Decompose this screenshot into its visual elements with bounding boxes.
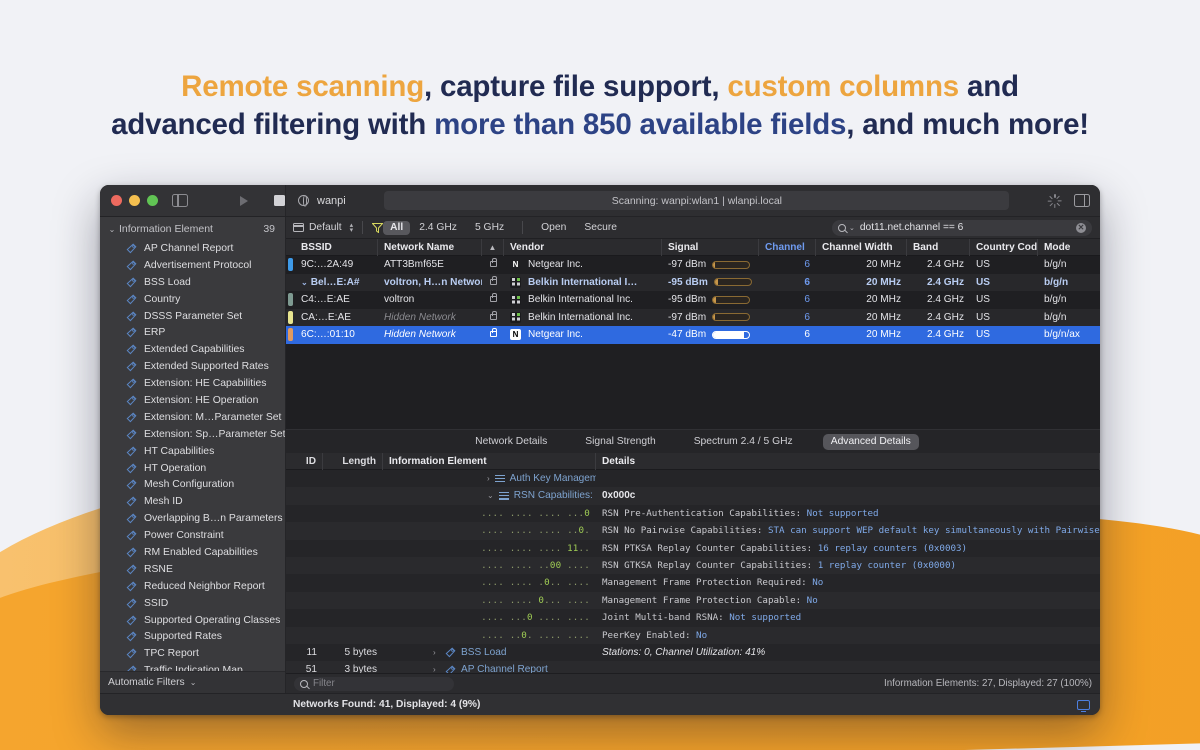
networks-col-mode[interactable]: Mode (1038, 239, 1100, 256)
sidebar-item[interactable]: RSNE (100, 561, 285, 578)
headline-line1: Remote scanning, capture file support, c… (181, 70, 1019, 103)
detail-value: Not supported (729, 612, 801, 623)
cell-band: 2.4 GHz (907, 291, 970, 309)
cell-length (323, 627, 383, 644)
networks-col-bssid[interactable]: BSSID (295, 239, 378, 256)
cell-details: Management Frame Protection Capable: No (596, 592, 1100, 609)
disclosure-triangle-icon[interactable]: › (433, 644, 440, 661)
details-col-details[interactable]: Details (596, 453, 1100, 470)
cell-details: PeerKey Enabled: No (596, 627, 1100, 644)
filter-band-5-button[interactable]: 5 GHz (466, 221, 513, 235)
cell-id (286, 540, 323, 557)
tag-icon (126, 479, 137, 490)
sidebar-item-label: Extension: HE Capabilities (144, 378, 266, 389)
bssid-text: 9C:…2A:49 (301, 259, 353, 270)
window-statusbar: Networks Found: 41, Displayed: 4 (9%) (100, 693, 1100, 715)
detail-value: Not supported (807, 508, 879, 519)
sidebar-item[interactable]: ERP (100, 324, 285, 341)
sidebar-item-label: Supported Operating Classes (144, 615, 280, 626)
cell-channel-width: 20 MHz (816, 274, 907, 292)
cell-mode: b/g/n (1038, 309, 1100, 327)
cell-details: Management Frame Protection Required: No (596, 574, 1100, 591)
cell-element: ›AP Channel Report (383, 661, 596, 673)
cell-signal: -95 dBm (662, 274, 759, 292)
cell-id (286, 627, 323, 644)
sidebar-item[interactable]: Extension: Sp…Parameter Set (100, 426, 285, 443)
cell-mode: b/g/n (1038, 291, 1100, 309)
chevron-down-icon: ⌄ (849, 224, 855, 232)
sidebar-item[interactable]: AP Channel Report (100, 240, 285, 257)
cell-signal: -47 dBm (662, 326, 759, 344)
tag-icon (126, 395, 137, 406)
cell-bssid: ⌄Bel…E:A# (295, 274, 378, 292)
sidebar-item[interactable]: Supported Rates (100, 628, 285, 645)
sidebar-item[interactable]: RM Enabled Capabilities (100, 544, 285, 561)
cell-details (596, 661, 1100, 673)
cell-channel: 6 (759, 326, 816, 344)
sidebar-item[interactable]: BSS Load (100, 274, 285, 291)
tag-icon (126, 581, 137, 592)
network-color-swatch (286, 291, 295, 309)
cell-vendor: NNetgear Inc. (504, 256, 662, 274)
networks-col-country-code[interactable]: Country Code (970, 239, 1038, 256)
tree-node[interactable]: ›AP Channel Report (433, 661, 590, 673)
cell-channel: 6 (759, 256, 816, 274)
list-icon (495, 475, 505, 483)
sidebar-item[interactable]: HT Operation (100, 460, 285, 477)
tag-icon (126, 665, 137, 671)
netgear-logo-icon: N (510, 259, 521, 270)
cell-details: 0x000c (596, 487, 1100, 504)
chevron-updown-icon: ▴▾ (350, 223, 354, 233)
automatic-filters-button[interactable]: Automatic Filters ⌄ (100, 671, 285, 693)
lock-icon (490, 261, 497, 267)
tag-icon (126, 378, 137, 389)
list-icon (499, 492, 509, 500)
cell-details (596, 470, 1100, 487)
cell-signal: -97 dBm (662, 309, 759, 327)
cell-channel: 6 (759, 309, 816, 327)
sidebar-item-label: Extended Capabilities (144, 344, 245, 355)
filter-all-button[interactable]: All (383, 221, 410, 235)
network-color-swatch (286, 274, 295, 292)
headline-text-4: , and much more! (846, 108, 1089, 141)
cell-security (482, 256, 504, 274)
headline-line2: advanced filtering with more than 850 av… (0, 106, 1200, 144)
tag-icon (126, 344, 137, 355)
networks-col-channel-width[interactable]: Channel Width (816, 239, 907, 256)
vendor-text: Netgear Inc. (528, 326, 583, 344)
tag-icon (126, 463, 137, 474)
sidebar-item-label: ERP (144, 327, 165, 338)
tab-signal-strength[interactable]: Signal Strength (577, 434, 663, 450)
sidebar-item[interactable]: Power Constraint (100, 527, 285, 544)
sidebar-item-label: Extended Supported Rates (144, 361, 269, 372)
window-body: ⌄ Information Element 39 AP Channel Repo… (100, 217, 1100, 693)
sidebar-item-label: Power Constraint (144, 530, 224, 541)
tag-icon (126, 243, 137, 254)
details-row[interactable]: .... .... .... ...0RSN Pre-Authenticatio… (286, 505, 1100, 522)
sidebar-item-label: RM Enabled Capabilities (144, 547, 258, 558)
details-row[interactable]: .... .... 0... ....Management Frame Prot… (286, 592, 1100, 609)
filter-band-24-button[interactable]: 2.4 GHz (410, 221, 466, 235)
tag-icon (126, 530, 137, 541)
clear-search-icon[interactable]: ✕ (1076, 223, 1086, 233)
cell-id: 11 (286, 644, 323, 661)
detail-value: STA can support WEP default key simultan… (768, 525, 1100, 536)
bssid-text: 6C:…:01:10 (301, 329, 355, 340)
network-row[interactable]: C4:…E:AEvoltronBelkin International Inc.… (286, 291, 1100, 309)
filter-secure-button[interactable]: Secure (575, 221, 626, 235)
sidebar-item-label: Overlapping B…n Parameters (144, 513, 283, 524)
cell-id (286, 522, 323, 539)
cell-bssid: C4:…E:AE (295, 291, 378, 309)
cell-length: 3 bytes (323, 661, 383, 673)
details-row[interactable]: .... .... .0.. ....Management Frame Prot… (286, 574, 1100, 591)
tab-advanced-details[interactable]: Advanced Details (823, 434, 919, 450)
cell-channel-width: 20 MHz (816, 326, 907, 344)
details-row[interactable]: .... .... .... 11..RSN PTKSA Replay Coun… (286, 540, 1100, 557)
detail-label: RSN No Pairwise Capabilities: (602, 525, 768, 536)
tree-node[interactable]: ›Auth Key Management Suite List (487, 470, 590, 487)
details-row[interactable]: .... .... ..00 ....RSN GTKSA Replay Coun… (286, 557, 1100, 574)
details-count-label: Information Elements: 27, Displayed: 27 … (884, 678, 1092, 689)
sidebar-item[interactable]: Extension: HE Capabilities (100, 375, 285, 392)
automatic-filters-label: Automatic Filters (108, 677, 185, 688)
lock-icon (490, 279, 497, 285)
tag-icon (126, 327, 137, 338)
network-row[interactable]: CA:…E:AEHidden NetworkBelkin Internation… (286, 309, 1100, 327)
cell-mode: b/g/n (1038, 274, 1100, 292)
detail-value: 1 replay counter (0x0000) (818, 560, 956, 571)
tag-icon (126, 547, 137, 558)
sidebar-item-label: DSSS Parameter Set (144, 311, 242, 322)
window-controls[interactable] (111, 195, 158, 206)
close-window-button[interactable] (111, 195, 122, 206)
sidebar-item-label: SSID (144, 598, 168, 609)
tag-icon (126, 631, 137, 642)
networks-col-network-name[interactable]: Network Name (378, 239, 482, 256)
networks-col-signal[interactable]: Signal (662, 239, 759, 256)
sidebar-item[interactable]: Traffic Indication Map (100, 662, 285, 671)
detail-value: 16 replay counters (0x0003) (818, 543, 967, 554)
headline: Remote scanning, capture file support, c… (0, 68, 1200, 145)
sidebar-item-label: Extension: Sp…Parameter Set (144, 429, 285, 440)
element-label: BSS Load (461, 644, 506, 661)
signal-text: -47 dBm (668, 326, 706, 344)
signal-strength-bar (712, 313, 750, 321)
disclosure-triangle-icon[interactable]: ⌄ (487, 487, 494, 504)
divider (522, 221, 523, 234)
tree-node[interactable]: ⌄RSN Capabilities: (487, 487, 590, 504)
disclosure-triangle-icon[interactable]: › (487, 470, 490, 487)
headline-accent-3: more than 850 available fields (434, 108, 846, 141)
bssid-text: CA:…E:AE (301, 312, 351, 323)
network-row[interactable]: 6C:…:01:10Hidden NetworkNNetgear Inc.-47… (286, 326, 1100, 344)
cell-length: 5 bytes (323, 644, 383, 661)
networks-col-band[interactable]: Band (907, 239, 970, 256)
cell-network-name: Hidden Network (378, 309, 482, 327)
start-scan-icon[interactable] (240, 196, 248, 206)
details-row[interactable]: ⌄RSN Capabilities:0x000c (286, 487, 1100, 504)
disclosure-triangle-icon[interactable]: › (433, 661, 440, 673)
sidebar-item[interactable]: TPC Report (100, 645, 285, 662)
sidebar-item-label: AP Channel Report (144, 243, 233, 254)
cell-id (286, 505, 323, 522)
networks-col-sort[interactable]: ▲ (482, 239, 504, 256)
cell-bitmask: .... .... .... ...0 (383, 505, 596, 522)
tag-icon (126, 598, 137, 609)
details-filter-input[interactable]: Filter (294, 677, 454, 691)
detail-value: No (696, 630, 707, 641)
bssid-text: Bel…E:A# (311, 277, 360, 288)
network-row[interactable]: 9C:…2A:49ATT3Bmf65ENNetgear Inc.-97 dBm6… (286, 256, 1100, 274)
cell-security (482, 326, 504, 344)
network-row[interactable]: ⌄Bel…E:A#voltron, H…n NetworkBelkin Inte… (286, 274, 1100, 292)
cell-id (286, 609, 323, 626)
sidebar-section-header[interactable]: ⌄ Information Element 39 (100, 217, 285, 239)
sidebar-item[interactable]: Country (100, 291, 285, 308)
lock-icon (490, 296, 497, 302)
sidebar-item[interactable]: Reduced Neighbor Report (100, 578, 285, 595)
sidebar-item[interactable]: Extension: HE Operation (100, 392, 285, 409)
cell-id (286, 574, 323, 591)
signal-strength-bar (712, 296, 750, 304)
sidebar-item[interactable]: SSID (100, 595, 285, 612)
details-col-length[interactable]: Length (323, 453, 383, 470)
cell-details: Joint Multi-band RSNA: Not supported (596, 609, 1100, 626)
expand-group-icon[interactable]: ⌄ (301, 278, 308, 287)
sidebar-item-label: Extension: HE Operation (144, 395, 258, 406)
search-icon (838, 224, 846, 232)
details-row[interactable]: .... ...0 .... ....Joint Multi-band RSNA… (286, 609, 1100, 626)
cell-bitmask: .... .... .... 11.. (383, 540, 596, 557)
search-value: dot11.net.channel == 6 (860, 222, 963, 233)
lock-icon (490, 314, 497, 320)
networks-col-channel[interactable]: Channel (759, 239, 816, 256)
belkin-logo-icon (510, 294, 521, 305)
detail-label: RSN Pre-Authentication Capabilities: (602, 508, 807, 519)
signal-text: -95 dBm (668, 274, 708, 292)
cell-length (323, 557, 383, 574)
tag-icon (126, 277, 137, 288)
cell-security (482, 309, 504, 327)
tab-spectrum-2-4-5-ghz[interactable]: Spectrum 2.4 / 5 GHz (686, 434, 801, 450)
cell-bitmask: .... .... .0.. .... (383, 574, 596, 591)
filter-open-button[interactable]: Open (532, 221, 575, 235)
profile-label: Default (309, 222, 342, 233)
network-color-swatch (286, 309, 295, 327)
scanning-status-field: Scanning: wanpi:wlan1 | wlanpi.local (384, 191, 1009, 210)
headline-accent-1: Remote scanning (181, 70, 424, 103)
sidebar-item[interactable]: Mesh Configuration (100, 476, 285, 493)
signal-text: -97 dBm (668, 309, 706, 327)
cell-bitmask: .... .... 0... .... (383, 592, 596, 609)
cell-bitmask: .... .... ..00 .... (383, 557, 596, 574)
detail-label: PeerKey Enabled: (602, 630, 696, 641)
toggle-inspector-icon[interactable] (1074, 194, 1090, 207)
sidebar-item-label: Mesh ID (144, 496, 183, 507)
sidebar-item-label: HT Operation (144, 463, 206, 474)
details-row[interactable]: ›Auth Key Management Suite List (286, 470, 1100, 487)
filter-funnel-icon[interactable] (372, 223, 383, 233)
cell-signal: -95 dBm (662, 291, 759, 309)
tag-icon (126, 260, 137, 271)
cell-country-code: US (970, 291, 1038, 309)
cell-country-code: US (970, 256, 1038, 274)
details-row[interactable]: .... .... .... ..0.RSN No Pairwise Capab… (286, 522, 1100, 539)
cell-length (323, 522, 383, 539)
cell-length (323, 505, 383, 522)
detail-label: RSN PTKSA Replay Counter Capabilities: (602, 543, 818, 554)
cell-channel-width: 20 MHz (816, 291, 907, 309)
network-color-swatch (286, 256, 295, 274)
cell-bitmask: .... .... .... ..0. (383, 522, 596, 539)
cell-length (323, 574, 383, 591)
stop-scan-icon[interactable] (274, 195, 285, 206)
sort-ascending-icon: ▲ (489, 243, 497, 252)
tag-icon (445, 665, 456, 674)
details-row[interactable]: 115 bytes›BSS LoadStations: 0, Channel U… (286, 644, 1100, 661)
sidebar-item-label: TPC Report (144, 648, 199, 659)
belkin-logo-icon (510, 312, 521, 323)
details-filter-bar: Filter Information Elements: 27, Display… (286, 673, 1100, 693)
sidebar-section-count: 39 (263, 223, 275, 235)
sidebar-item[interactable]: Supported Operating Classes (100, 612, 285, 629)
sidebar-item[interactable]: DSSS Parameter Set (100, 308, 285, 325)
app-window: wanpi Scanning: wanpi:wlan1 | wlanpi.loc… (100, 185, 1100, 715)
cell-band: 2.4 GHz (907, 256, 970, 274)
details-col-element[interactable]: Information Element (383, 453, 596, 470)
netgear-logo-icon: N (510, 329, 521, 340)
detail-value: No (807, 595, 818, 606)
networks-found-label: Networks Found: 41, Displayed: 4 (9%) (286, 699, 480, 710)
element-label: AP Channel Report (461, 661, 548, 673)
sidebar-item[interactable]: Extended Capabilities (100, 341, 285, 358)
lock-icon (490, 331, 497, 337)
maximize-window-button[interactable] (147, 195, 158, 206)
cell-id (286, 470, 323, 487)
networks-table-body: 9C:…2A:49ATT3Bmf65ENNetgear Inc.-97 dBm6… (286, 256, 1100, 429)
advanced-details-panel: ID Length Information Element Details ›A… (286, 453, 1100, 693)
cell-bitmask: .... ...0 .... .... (383, 609, 596, 626)
sidebar: ⌄ Information Element 39 AP Channel Repo… (100, 217, 286, 693)
sidebar-item[interactable]: Overlapping B…n Parameters (100, 510, 285, 527)
vendor-text: Belkin International I… (528, 274, 637, 292)
vendor-text: Belkin International Inc. (528, 309, 633, 327)
details-row[interactable]: 513 bytes›AP Channel Report (286, 661, 1100, 673)
tag-icon (126, 513, 137, 524)
sidebar-section-label: Information Element (118, 223, 263, 235)
sidebar-item-label: RSNE (144, 564, 173, 575)
cell-security (482, 274, 504, 292)
main-area: Default ▴▾ All 2.4 GHz 5 GHz Open Secure (286, 217, 1100, 693)
sidebar-item-label: Extension: M…Parameter Set (144, 412, 281, 423)
tag-icon (126, 648, 137, 659)
cell-network-name: Hidden Network (378, 326, 482, 344)
networks-table-header: BSSIDNetwork Name▲VendorSignalChannelCha… (286, 239, 1100, 256)
cell-mode: b/g/n (1038, 256, 1100, 274)
sidebar-item[interactable]: Mesh ID (100, 493, 285, 510)
signal-strength-bar (712, 261, 750, 269)
divider (362, 221, 363, 234)
tag-icon (126, 294, 137, 305)
details-table-header: ID Length Information Element Details (286, 453, 1100, 470)
scanning-status-text: Scanning: wanpi:wlan1 | wlanpi.local (612, 195, 782, 207)
tag-icon (445, 647, 456, 658)
sidebar-item[interactable]: Extension: M…Parameter Set (100, 409, 285, 426)
profile-selector[interactable]: Default ▴▾ (293, 222, 353, 233)
toggle-sidebar-icon[interactable] (172, 194, 188, 207)
cell-id (286, 487, 323, 504)
networks-col-vendor[interactable]: Vendor (504, 239, 662, 256)
detail-label: Management Frame Protection Required: (602, 577, 812, 588)
tag-icon (126, 361, 137, 372)
cell-country-code: US (970, 274, 1038, 292)
cell-vendor: NNetgear Inc. (504, 326, 662, 344)
tag-icon (126, 412, 137, 423)
detail-label: Joint Multi-band RSNA: (602, 612, 729, 623)
page-root: Remote scanning, capture file support, c… (0, 0, 1200, 750)
cell-length (323, 592, 383, 609)
cell-id (286, 557, 323, 574)
details-col-id[interactable]: ID (286, 453, 323, 470)
cell-channel: 6 (759, 274, 816, 292)
cell-id: 51 (286, 661, 323, 673)
sidebar-item[interactable]: HT Capabilities (100, 443, 285, 460)
tab-network-details[interactable]: Network Details (467, 434, 555, 450)
cell-vendor: Belkin International Inc. (504, 309, 662, 327)
sidebar-item-label: Reduced Neighbor Report (144, 581, 265, 592)
headline-text-2: and (959, 70, 1019, 103)
titlebar-left (100, 185, 286, 216)
cell-signal: -97 dBm (662, 256, 759, 274)
belkin-logo-icon (510, 277, 521, 288)
sidebar-item-label: Advertisement Protocol (144, 260, 251, 271)
details-filter-placeholder: Filter (313, 678, 335, 689)
minimize-window-button[interactable] (129, 195, 140, 206)
tree-node[interactable]: ›BSS Load (433, 644, 590, 661)
signal-strength-bar (712, 331, 750, 339)
details-row[interactable]: .... ..0. .... ....PeerKey Enabled: No (286, 627, 1100, 644)
globe-icon (298, 195, 309, 206)
titlebar-right: wanpi Scanning: wanpi:wlan1 | wlanpi.loc… (286, 185, 1100, 216)
sidebar-item[interactable]: Advertisement Protocol (100, 257, 285, 274)
tag-icon (126, 311, 137, 322)
detail-label: RSN GTKSA Replay Counter Capabilities: (602, 560, 818, 571)
cell-details: Stations: 0, Channel Utilization: 41% (596, 644, 1100, 661)
cell-country-code: US (970, 309, 1038, 327)
sidebar-item[interactable]: Extended Supported Rates (100, 358, 285, 375)
search-input[interactable]: ⌄ dot11.net.channel == 6 ✕ (832, 220, 1092, 236)
cell-bssid: 6C:…:01:10 (295, 326, 378, 344)
cell-details: RSN PTKSA Replay Counter Capabilities: 1… (596, 540, 1100, 557)
cell-channel-width: 20 MHz (816, 309, 907, 327)
cell-bssid: CA:…E:AE (295, 309, 378, 327)
display-icon[interactable] (1077, 700, 1090, 710)
cell-band: 2.4 GHz (907, 274, 970, 292)
cell-network-name: voltron, H…n Network (378, 274, 482, 292)
activity-spinner-icon (1048, 194, 1062, 208)
signal-text: -95 dBm (668, 291, 706, 309)
cell-vendor: Belkin International Inc. (504, 291, 662, 309)
details-tabstrip: Network DetailsSignal StrengthSpectrum 2… (286, 429, 1100, 453)
headline-text-3: advanced filtering with (111, 108, 434, 141)
cell-details: RSN Pre-Authentication Capabilities: Not… (596, 505, 1100, 522)
cell-length (323, 540, 383, 557)
tag-icon (126, 615, 137, 626)
sidebar-item-label: Mesh Configuration (144, 479, 234, 490)
